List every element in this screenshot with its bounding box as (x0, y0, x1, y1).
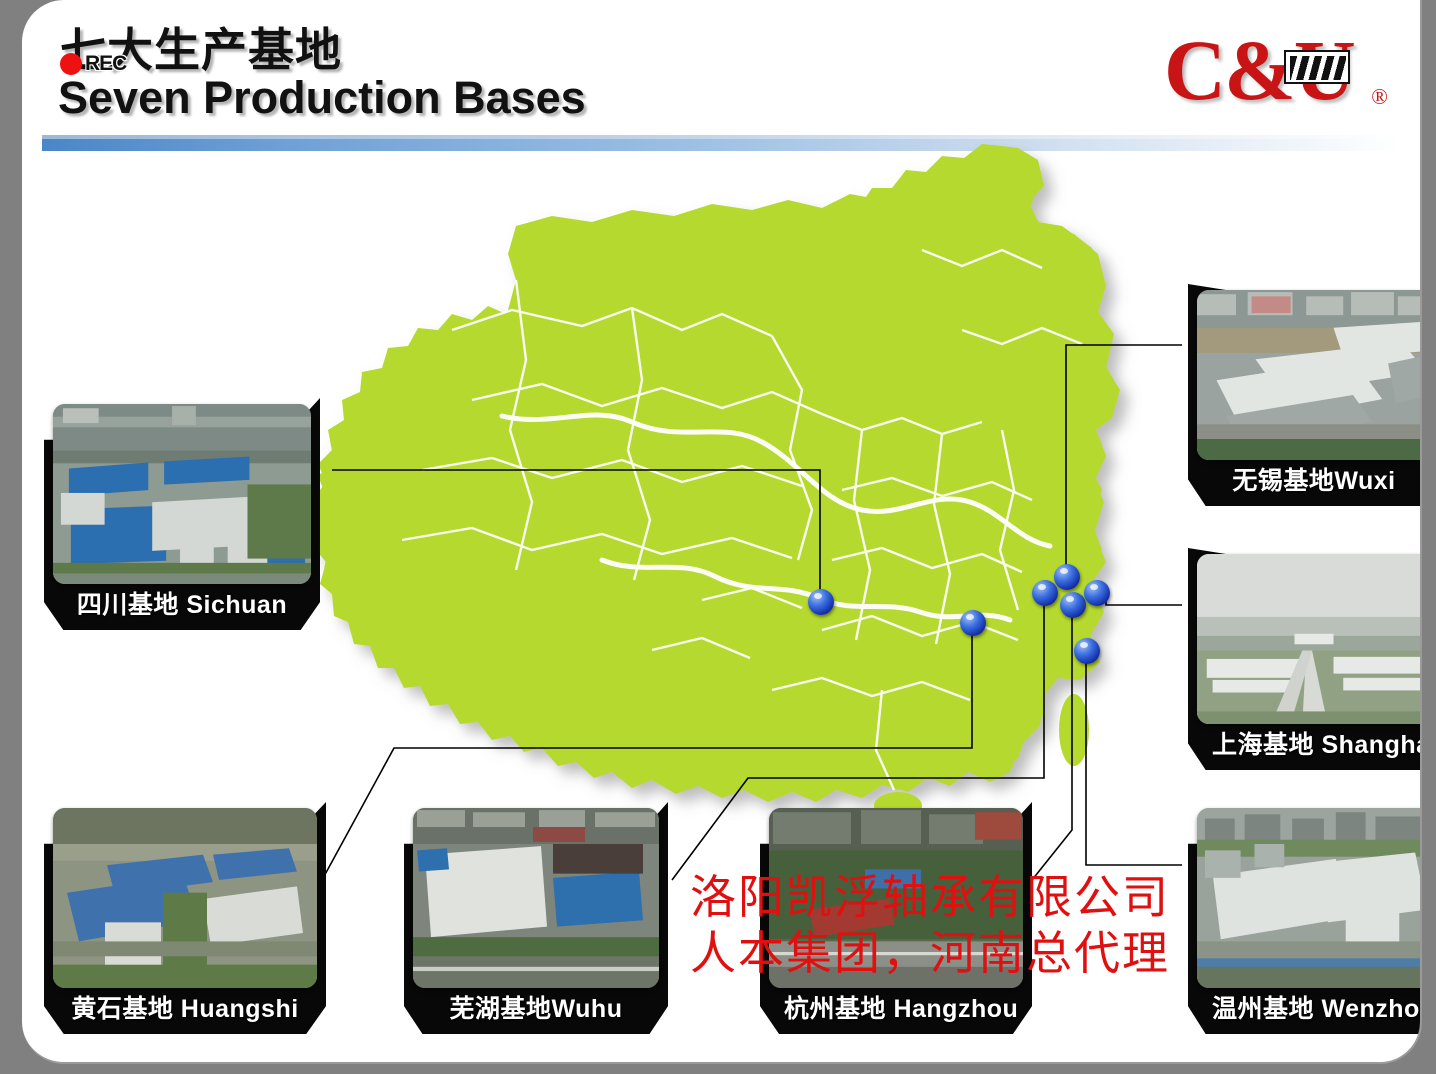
base-card-wuxi[interactable]: 无锡基地Wuxi (1188, 284, 1422, 506)
base-card-shanghai[interactable]: 上海基地 Shanghai (1188, 548, 1422, 770)
map-marker-wuxi[interactable] (1054, 564, 1080, 590)
base-card-wenzhou[interactable]: 温州基地 Wenzhou (1188, 802, 1422, 1034)
card-caption-huangshi: 黄石基地 Huangshi (44, 988, 326, 1026)
screenshot-root: 七大生产基地 Seven Production Bases C&U ® (0, 0, 1436, 1074)
page-title-english: Seven Production Bases (58, 72, 586, 124)
map-marker-wuhu[interactable] (1032, 580, 1058, 606)
map-marker-shanghai[interactable] (1084, 580, 1110, 606)
recording-label: REC (85, 52, 126, 76)
card-caption-wenzhou: 温州基地 Wenzhou (1188, 988, 1422, 1026)
base-card-hangzhou[interactable]: 杭州基地 Hangzhou (760, 802, 1032, 1034)
map-marker-hangzhou[interactable] (1060, 592, 1086, 618)
base-card-wuhu[interactable]: 芜湖基地Wuhu (404, 802, 668, 1034)
cu-logo-bars-icon (1284, 50, 1350, 84)
photo-hangzhou (769, 808, 1023, 988)
photo-huangshi (53, 808, 317, 988)
cu-logo-text: C&U (1164, 24, 1384, 116)
card-caption-sichuan: 四川基地 Sichuan (44, 584, 320, 622)
card-caption-shanghai: 上海基地 Shanghai (1188, 724, 1422, 762)
base-card-huangshi[interactable]: 黄石基地 Huangshi (44, 802, 326, 1034)
china-landmass-outline (312, 160, 1120, 802)
map-marker-sichuan[interactable] (808, 589, 834, 615)
card-caption-hangzhou: 杭州基地 Hangzhou (760, 988, 1032, 1026)
map-marker-huangshi[interactable] (960, 610, 986, 636)
photo-wuxi (1197, 290, 1422, 460)
china-map (302, 130, 1142, 820)
base-card-sichuan[interactable]: 四川基地 Sichuan (44, 398, 320, 630)
card-caption-wuhu: 芜湖基地Wuhu (404, 988, 668, 1026)
presentation-slide: 七大生产基地 Seven Production Bases C&U ® (22, 0, 1422, 1064)
photo-wuhu (413, 808, 659, 988)
cu-logo: C&U ® (1164, 24, 1384, 116)
registered-trademark-icon: ® (1371, 84, 1388, 110)
photo-sichuan (53, 404, 311, 584)
card-caption-wuxi: 无锡基地Wuxi (1188, 460, 1422, 498)
map-marker-wenzhou[interactable] (1074, 638, 1100, 664)
recording-indicator: REC (60, 52, 126, 76)
record-dot-icon (60, 53, 82, 75)
photo-wenzhou (1197, 808, 1422, 988)
photo-shanghai (1197, 554, 1422, 724)
